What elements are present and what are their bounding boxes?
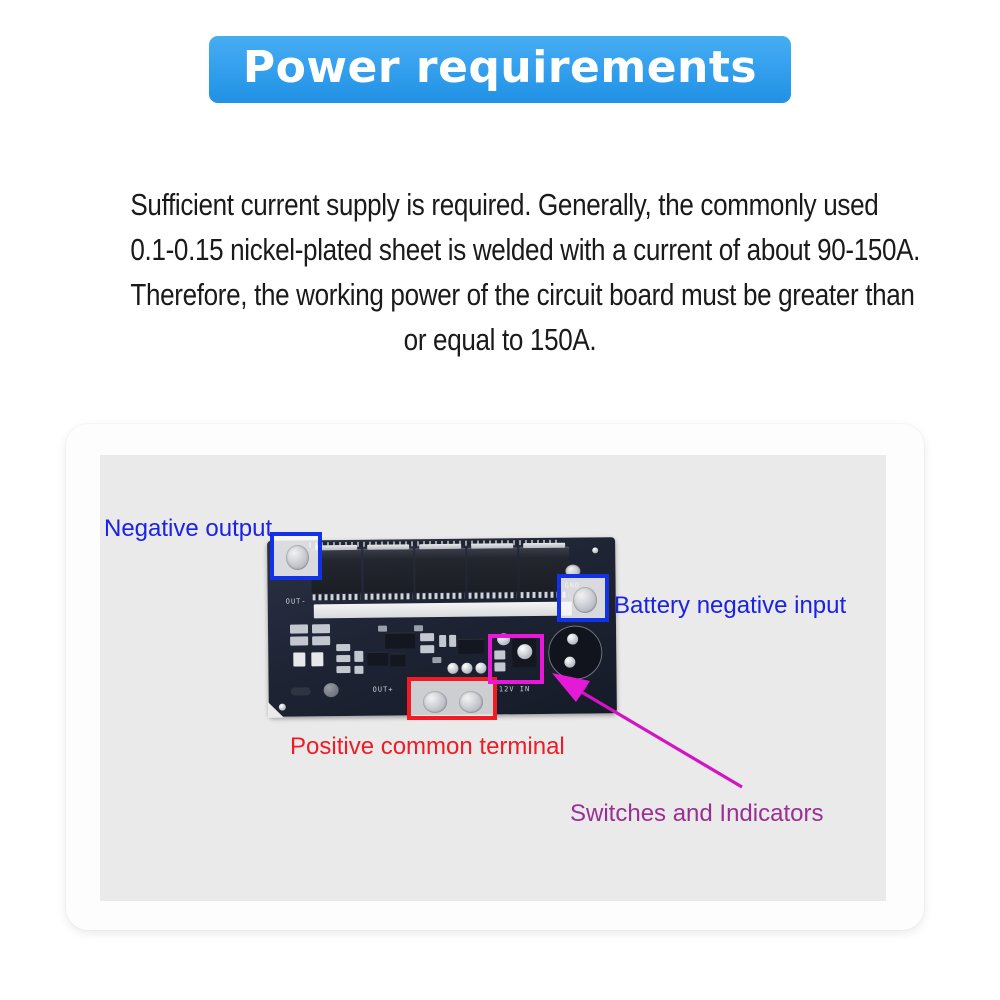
silk-power-in: +12V IN bbox=[494, 685, 531, 693]
mosfet bbox=[363, 548, 413, 593]
left-pad bbox=[290, 636, 308, 645]
smd-pad bbox=[311, 652, 323, 666]
smd-pad bbox=[354, 651, 363, 662]
callout-battery-negative-input: Battery negative input bbox=[614, 592, 846, 620]
callout-switches-and-indicators: Switches and Indicators bbox=[570, 800, 823, 828]
mosfet-leg-row bbox=[417, 593, 465, 600]
highlight-battery-negative-input bbox=[557, 574, 609, 622]
mosfet-leg-row bbox=[469, 592, 517, 599]
solder-bus-bar bbox=[314, 602, 572, 619]
ic-chip bbox=[385, 632, 415, 648]
header-banner-container: Power requirements bbox=[0, 36, 1000, 103]
left-pad bbox=[312, 624, 330, 633]
silk-out-positive: OUT+ bbox=[373, 686, 394, 694]
ic-chip bbox=[458, 639, 484, 654]
smd-resistor bbox=[432, 657, 441, 663]
smd-pad bbox=[420, 645, 434, 653]
negative-output-terminal-hole bbox=[286, 545, 309, 570]
paragraph-line-1: Sufficient current supply is required. G… bbox=[130, 182, 869, 227]
left-pad bbox=[290, 624, 308, 633]
board-slot bbox=[291, 687, 311, 695]
highlight-positive-common-terminal bbox=[407, 677, 497, 720]
ic-chip bbox=[390, 653, 405, 666]
highlight-switches-indicators bbox=[488, 634, 544, 684]
page-title: Power requirements bbox=[243, 46, 757, 90]
capacitor-via bbox=[564, 657, 575, 668]
product-image-card: GND OUT- bbox=[66, 424, 924, 930]
silk-out-negative: OUT- bbox=[286, 597, 307, 605]
smd-pad bbox=[336, 655, 350, 662]
smd-pad bbox=[449, 635, 456, 647]
battery-negative-terminal-hole bbox=[573, 587, 597, 613]
paragraph-line-3: Therefore, the working power of the circ… bbox=[130, 272, 869, 317]
board-corner-via bbox=[279, 704, 286, 711]
ic-chip bbox=[367, 652, 388, 666]
paragraph-line-2: 0.1-0.15 nickel-plated sheet is welded w… bbox=[130, 227, 869, 272]
smd-resistor bbox=[378, 626, 387, 632]
positive-terminal-hole-right bbox=[459, 691, 483, 713]
header-banner: Power requirements bbox=[209, 36, 791, 103]
capacitor-via bbox=[567, 634, 578, 645]
paragraph-line-4: or equal to 150A. bbox=[130, 317, 869, 362]
mosfet bbox=[415, 548, 465, 593]
smd-pad bbox=[439, 635, 446, 647]
mounting-hole bbox=[324, 683, 339, 697]
description-paragraph: Sufficient current supply is required. G… bbox=[130, 182, 869, 362]
smd-resistor bbox=[414, 625, 423, 631]
highlight-negative-output bbox=[270, 532, 322, 580]
positive-terminal-hole-left bbox=[423, 691, 447, 713]
mosfet-leg-row bbox=[313, 594, 361, 601]
round-pad bbox=[461, 663, 472, 674]
smd-pad bbox=[420, 633, 434, 641]
smd-pad bbox=[336, 666, 350, 673]
left-pad bbox=[312, 636, 330, 645]
callout-positive-common-terminal: Positive common terminal bbox=[290, 733, 565, 761]
round-pad bbox=[475, 663, 486, 674]
callout-negative-output: Negative output bbox=[104, 515, 272, 543]
board-corner-via bbox=[592, 547, 598, 553]
mosfet-leg-row bbox=[365, 593, 413, 600]
round-pad bbox=[447, 663, 458, 674]
mosfet bbox=[467, 547, 517, 592]
smd-pad bbox=[293, 652, 305, 666]
smd-pad bbox=[354, 666, 363, 674]
smd-pad bbox=[336, 644, 350, 651]
board-slot bbox=[566, 682, 588, 690]
